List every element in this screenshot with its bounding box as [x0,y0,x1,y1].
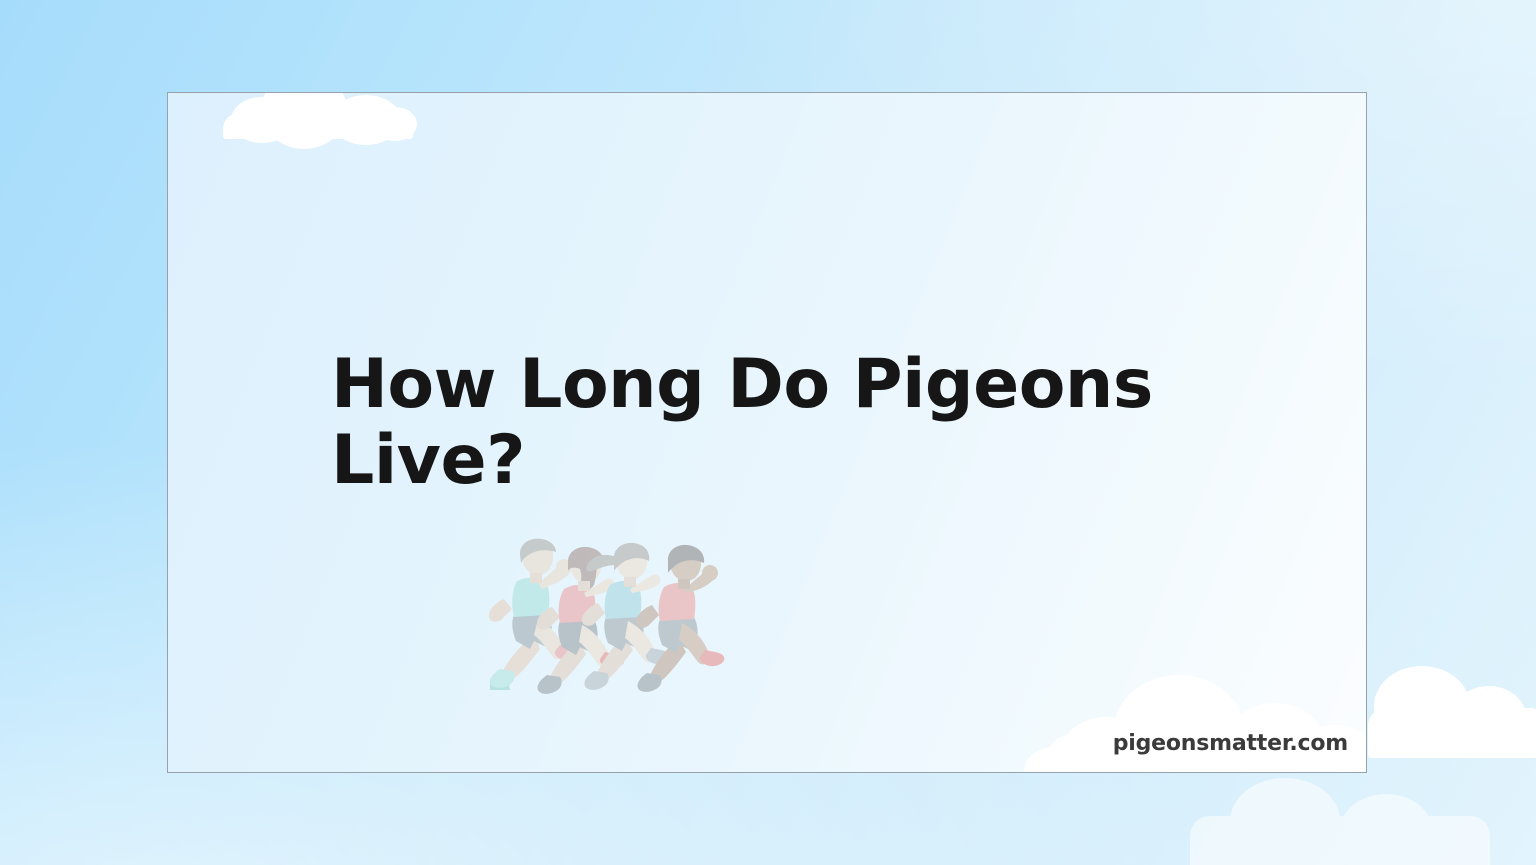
ground-line [168,772,1367,773]
cloud-puff [1374,666,1470,746]
cloud-outer-right-icon [1368,666,1536,776]
cloud-puff [231,97,293,143]
slide-frame: How Long Do Pigeons Live? pigeonsmatter.… [167,92,1367,773]
cloud-puff [373,107,417,141]
cloud-base [223,113,413,139]
cloud-puff [331,95,401,145]
runner-4 [636,545,724,692]
cloud-puff [1452,686,1526,748]
cloud-base [1190,816,1490,865]
cloud-puff [1024,747,1086,773]
featured-image-canvas: How Long Do Pigeons Live? pigeonsmatter.… [0,0,1536,865]
site-watermark: pigeonsmatter.com [1113,731,1348,756]
cloud-bottom-right-icon [1048,669,1367,773]
page-title: How Long Do Pigeons Live? [331,347,1231,499]
cloud-puff [1114,675,1244,773]
cloud-base [1368,708,1536,758]
cloud-puff [1340,794,1432,865]
four-runners-illustration [476,537,736,697]
cloud-puff [1230,778,1340,864]
cloud-puff [261,92,347,149]
cloud-top-left-icon [223,92,413,152]
cloud-outer-bottom-icon [1190,776,1490,865]
